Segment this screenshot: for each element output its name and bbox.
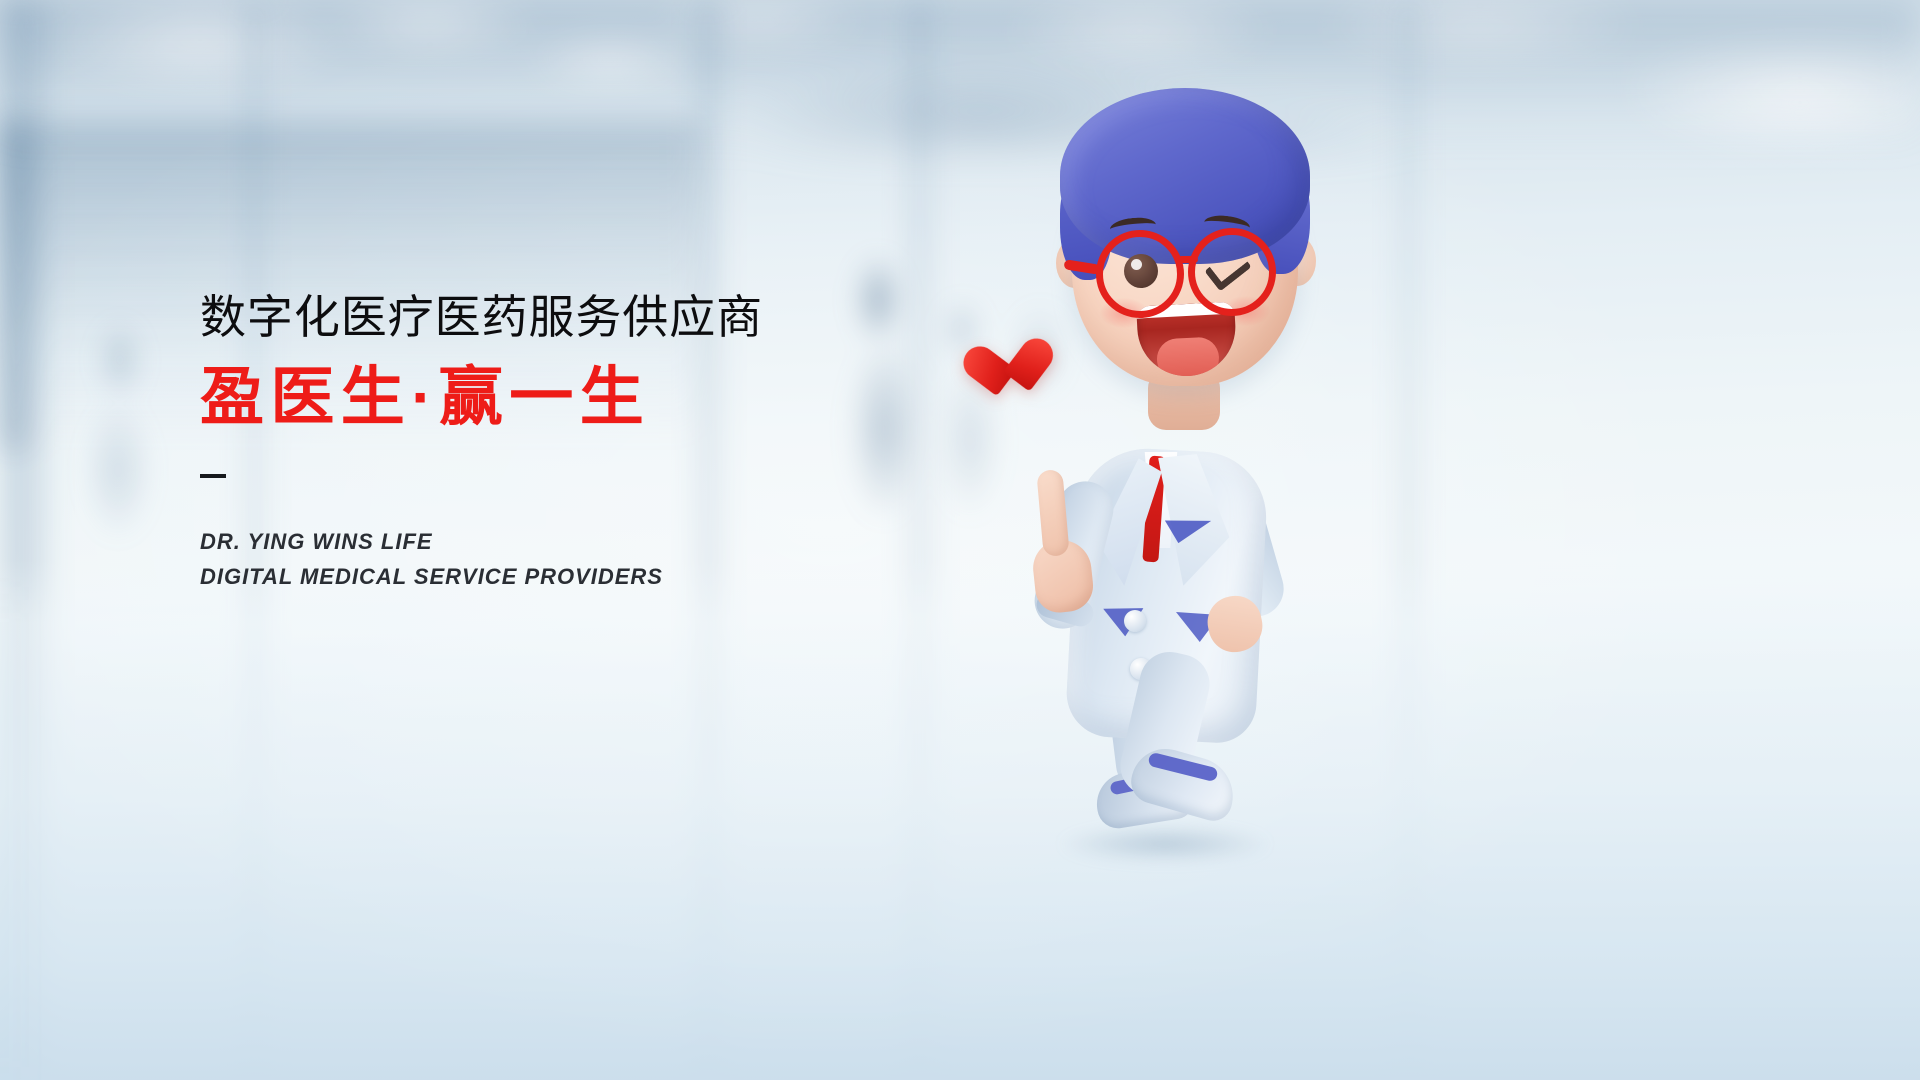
doctor-mascot-illustration (960, 40, 1380, 870)
heart-icon (976, 334, 1046, 402)
mascot-coat-button-top (1124, 610, 1146, 632)
hero-divider-rule (200, 474, 226, 478)
mascot-ground-shadow (1060, 826, 1270, 862)
mascot-tongue (1156, 336, 1220, 378)
glasses-bridge-icon (1178, 256, 1198, 263)
hero-banner: 数字化医疗医药服务供应商 盈医生·赢一生 DR. YING WINS LIFE … (0, 0, 1920, 1080)
glasses-left-lens-icon (1096, 230, 1184, 318)
mascot-pointing-finger (1036, 469, 1069, 557)
mascot-hair (1060, 88, 1310, 264)
glasses-right-lens-icon (1188, 228, 1276, 316)
